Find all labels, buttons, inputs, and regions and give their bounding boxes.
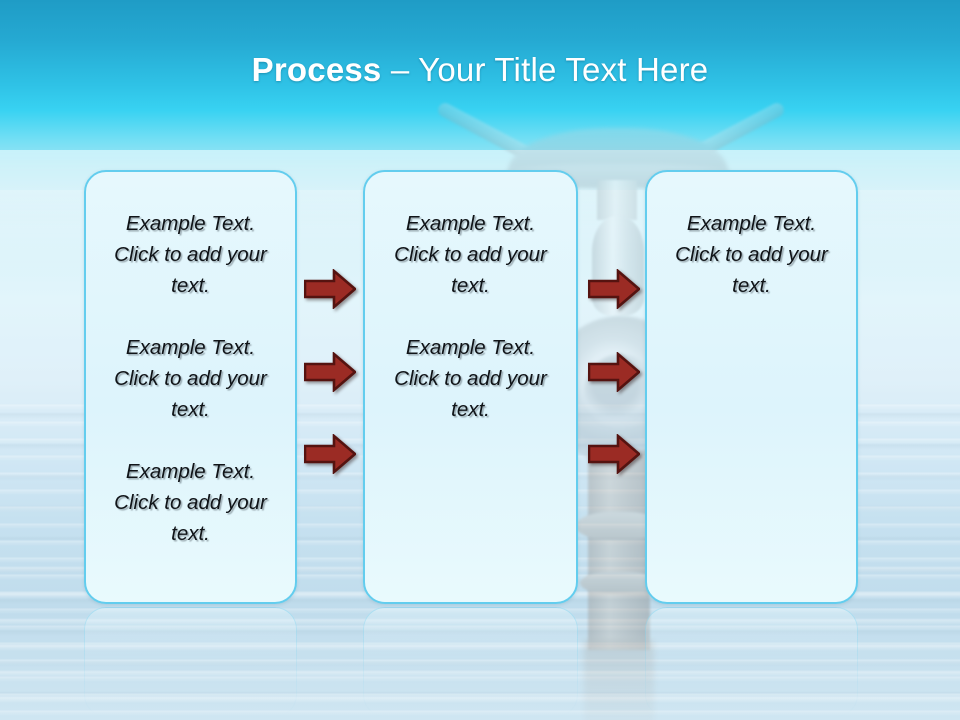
page-title: Process – Your Title Text Here (0, 50, 960, 90)
arrow-right-icon-2c[interactable] (588, 434, 640, 474)
process-box-3-paragraph-1[interactable]: Example Text. Click to add your text. (663, 208, 840, 301)
page-title-bold: Process (252, 51, 382, 88)
process-box-1[interactable]: Example Text. Click to add your text. Ex… (84, 170, 297, 604)
arrow-right-icon-1b[interactable] (304, 352, 356, 392)
process-box-1-paragraph-1[interactable]: Example Text. Click to add your text. (102, 208, 279, 301)
process-box-2-content: Example Text. Click to add your text. Ex… (365, 172, 576, 425)
process-box-2[interactable]: Example Text. Click to add your text. Ex… (363, 170, 578, 604)
arrow-right-icon-2b[interactable] (588, 352, 640, 392)
slide-canvas: Process – Your Title Text Here Example T… (0, 0, 960, 720)
process-box-2-paragraph-1[interactable]: Example Text. Click to add your text. (381, 208, 560, 301)
process-box-3-content: Example Text. Click to add your text. (647, 172, 856, 301)
process-box-3[interactable]: Example Text. Click to add your text. (645, 170, 858, 604)
process-box-1-content: Example Text. Click to add your text. Ex… (86, 172, 295, 549)
page-title-rest: – Your Title Text Here (381, 51, 708, 88)
process-box-2-paragraph-2[interactable]: Example Text. Click to add your text. (381, 332, 560, 425)
arrow-right-icon-2a[interactable] (588, 269, 640, 309)
arrow-right-icon-1a[interactable] (304, 269, 356, 309)
process-box-1-paragraph-3[interactable]: Example Text. Click to add your text. (102, 456, 279, 549)
arrow-right-icon-1c[interactable] (304, 434, 356, 474)
process-box-1-paragraph-2[interactable]: Example Text. Click to add your text. (102, 332, 279, 425)
